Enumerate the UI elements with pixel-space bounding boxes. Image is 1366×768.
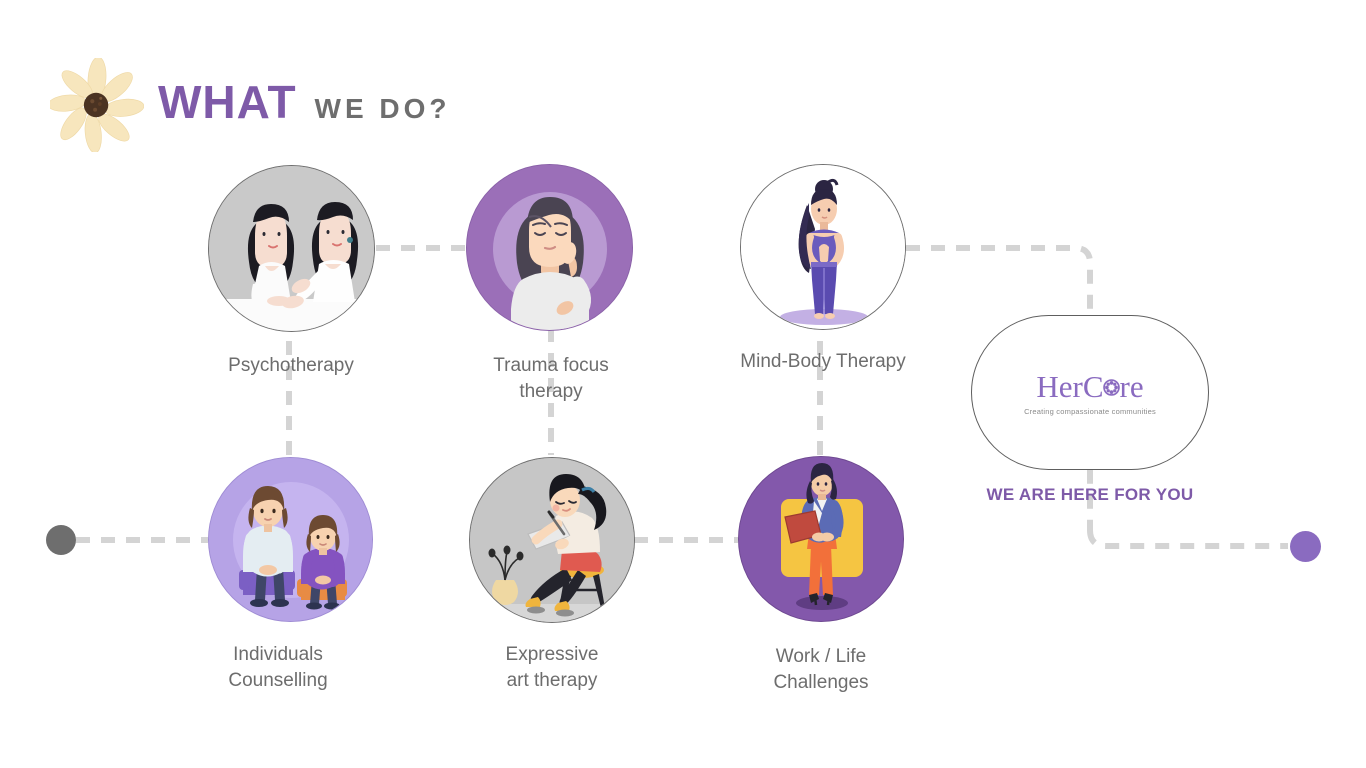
hercare-logo-card[interactable]: Her C re Creating compassionate communit… [971,315,1209,470]
logo-text-c: C [1083,369,1104,405]
slide-canvas: WHAT WE DO? [0,0,1366,768]
logo-text-her: Her [1036,369,1082,405]
two-women-talking-illustration [209,166,375,332]
page-header: WHAT WE DO? [50,58,451,152]
businesswoman-with-tablet-illustration [739,457,904,622]
mind-body-therapy-label: Mind-Body Therapy [708,349,938,375]
expressive-art-therapy-label: Expressive art therapy [437,642,667,694]
woman-drawing-illustration [470,458,635,623]
work-life-challenges-label: Work / Life Challenges [706,644,936,696]
work-life-challenges-circle[interactable] [738,456,904,622]
trauma-focus-therapy-circle[interactable] [466,164,633,331]
psychotherapy-circle[interactable] [208,165,375,332]
individuals-counselling-label: Individuals Counselling [163,642,393,694]
page-subtitle: WE DO? [315,93,451,125]
mother-and-child-seated-illustration [209,458,373,622]
distressed-woman-illustration [467,165,633,331]
page-title: WHAT [158,75,297,129]
logo-text-re: re [1120,369,1144,405]
flower-gear-icon [1103,379,1120,396]
end-node-dot [1290,531,1321,562]
daisy-flower-icon [50,58,144,152]
mind-body-therapy-circle[interactable] [740,164,906,330]
psychotherapy-label: Psychotherapy [176,353,406,379]
hercare-logo: Her C re Creating compassionate communit… [1024,369,1156,416]
individuals-counselling-circle[interactable] [208,457,373,622]
yoga-meditation-woman-illustration [741,165,906,330]
trauma-focus-therapy-label: Trauma focus therapy [436,353,666,405]
expressive-art-therapy-circle[interactable] [469,457,635,623]
cta-tagline: WE ARE HERE FOR YOU [971,485,1209,505]
logo-tagline: Creating compassionate communities [1024,407,1156,416]
start-node-dot [46,525,76,555]
